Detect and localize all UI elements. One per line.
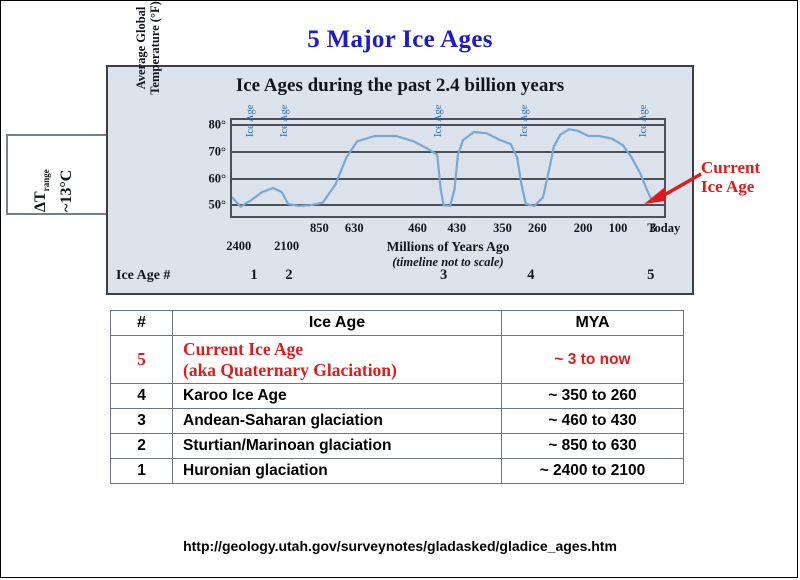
x-axis-tick-label: 200 — [574, 221, 593, 236]
delta-t-bracket: ΔTrange ~13°C — [6, 134, 106, 215]
cell-name-line1: Sturtian/Marinoan glaciation — [183, 437, 495, 455]
x-axis-tick-label: 260 — [528, 221, 547, 236]
bracket-bottom-line — [6, 213, 106, 215]
cell-mya: ~ 850 to 630 — [502, 434, 684, 459]
y-axis-tick-label: 50° — [209, 198, 227, 213]
cell-number: 5 — [111, 336, 173, 384]
bracket-top-line — [6, 134, 106, 136]
plot-area: 50°60°70°80° Ice AgeIce AgeIce AgeIce Ag… — [230, 118, 666, 218]
cell-name: Karoo Ice Age — [173, 384, 502, 409]
y-axis-label-line1: Average Global — [134, 0, 148, 103]
ice-age-number: 4 — [527, 267, 534, 284]
cell-name-line2: (aka Quaternary Glaciation) — [183, 360, 495, 381]
x-axis-tick-label: 460 — [408, 221, 427, 236]
delta-t-symbol: ΔTrange — [32, 169, 51, 212]
annotation-line2: Ice Age — [701, 177, 760, 196]
table-row: 2Sturtian/Marinoan glaciation~ 850 to 63… — [111, 434, 684, 459]
ice-ages-table: # Ice Age MYA 5Current Ice Age(aka Quate… — [110, 310, 684, 484]
cell-mya: ~ 460 to 430 — [502, 409, 684, 434]
x-axis-caption: Millions of Years Ago — [230, 239, 666, 255]
temperature-curve — [232, 120, 664, 216]
cell-name-line1: Andean-Saharan glaciation — [183, 412, 495, 430]
red-arrow-icon — [641, 171, 703, 205]
cell-name: Huronian glaciation — [173, 459, 502, 484]
table-row: 1Huronian glaciation~ 2400 to 2100 — [111, 459, 684, 484]
x-axis-tick-label: 100 — [609, 221, 628, 236]
ice-ages-table-wrapper: # Ice Age MYA 5Current Ice Age(aka Quate… — [110, 310, 684, 484]
cell-name: Current Ice Age(aka Quaternary Glaciatio… — [173, 336, 502, 384]
ice-age-row-label: Ice Age # — [116, 268, 170, 284]
page-title: 5 Major Ice Ages — [1, 26, 799, 54]
cell-name: Andean-Saharan glaciation — [173, 409, 502, 434]
source-url: http://geology.utah.gov/surveynotes/glad… — [1, 538, 799, 554]
table-body: 5Current Ice Age(aka Quaternary Glaciati… — [111, 336, 684, 484]
bracket-left-line — [6, 134, 8, 215]
table-row: 5Current Ice Age(aka Quaternary Glaciati… — [111, 336, 684, 384]
cell-name-line1: Karoo Ice Age — [183, 387, 495, 405]
x-axis-tick-label: 430 — [447, 221, 466, 236]
annotation-line1: Current — [701, 158, 760, 177]
ice-age-number: 1 — [250, 267, 257, 284]
cell-mya: ~ 350 to 260 — [502, 384, 684, 409]
cell-name-line1: Current Ice Age — [183, 339, 495, 360]
current-ice-age-annotation: Current Ice Age — [701, 158, 760, 196]
y-axis-label-line2: Temperature (°F) — [148, 0, 162, 103]
cell-number: 1 — [111, 459, 173, 484]
chart-panel: Ice Ages during the past 2.4 billion yea… — [106, 65, 694, 295]
ice-age-number: 3 — [440, 267, 447, 284]
cell-name-line1: Huronian glaciation — [183, 462, 495, 480]
delta-t-main: ΔT — [32, 191, 49, 212]
cell-number: 3 — [111, 409, 173, 434]
table-row: 4Karoo Ice Age~ 350 to 260 — [111, 384, 684, 409]
cell-number: 2 — [111, 434, 173, 459]
table-row: 3Andean-Saharan glaciation~ 460 to 430 — [111, 409, 684, 434]
cell-mya: ~ 2400 to 2100 — [502, 459, 684, 484]
column-header-number: # — [111, 311, 173, 336]
ice-age-number: 5 — [647, 267, 654, 284]
y-axis-tick-label: 70° — [209, 145, 227, 160]
x-axis-tick-label: 630 — [345, 221, 364, 236]
x-axis-tick-label: Today — [647, 221, 680, 236]
x-axis-subcaption: (timeline not to scale) — [230, 255, 666, 270]
table-header-row: # Ice Age MYA — [111, 311, 684, 336]
x-axis-tick-label: 350 — [493, 221, 512, 236]
cell-mya: ~ 3 to now — [502, 336, 684, 384]
y-axis-tick-label: 80° — [209, 118, 227, 133]
ice-age-number: 2 — [285, 267, 292, 284]
delta-t-value: ~13°C — [58, 170, 76, 212]
delta-t-subscript: range — [41, 169, 51, 191]
column-header-mya: MYA — [502, 311, 684, 336]
column-header-name: Ice Age — [173, 311, 502, 336]
y-axis-tick-label: 60° — [209, 171, 227, 186]
slide-canvas: 5 Major Ice Ages ΔTrange ~13°C Ice Ages … — [0, 0, 798, 578]
chart-title: Ice Ages during the past 2.4 billion yea… — [108, 75, 692, 97]
x-axis-tick-label: 850 — [310, 221, 329, 236]
cell-name: Sturtian/Marinoan glaciation — [173, 434, 502, 459]
y-axis-label: Average Global Temperature (°F) — [134, 0, 154, 103]
cell-number: 4 — [111, 384, 173, 409]
